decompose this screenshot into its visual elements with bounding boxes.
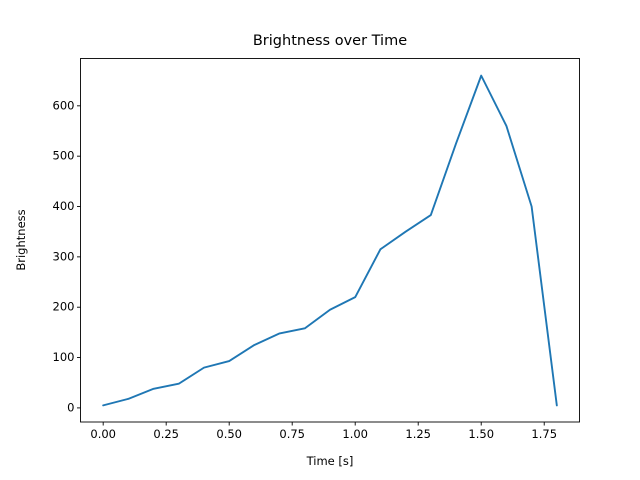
x-tick-label: 1.25 [405,427,431,441]
x-tick-label: 1.75 [531,427,557,441]
y-tick-label: 300 [53,249,75,263]
x-axis-label: Time [s] [306,454,354,468]
y-tick-label: 600 [53,98,75,112]
y-axis-label: Brightness [14,209,28,270]
x-tick-label: 0.50 [216,427,242,441]
chart-figure: Brightness over Time 0.000.250.500.751.0… [0,0,640,480]
y-tick-label: 0 [67,400,74,414]
y-tick-label: 200 [53,300,75,314]
chart-title: Brightness over Time [253,33,407,49]
x-tick-label: 0.25 [153,427,179,441]
x-tick-label: 0.75 [279,427,305,441]
x-tick-label: 1.00 [342,427,368,441]
chart-canvas: Brightness over Time 0.000.250.500.751.0… [0,0,640,480]
y-tick-label: 500 [53,149,75,163]
x-tick-label: 1.50 [468,427,494,441]
x-tick-label: 0.00 [90,427,116,441]
y-tick-label: 400 [53,199,75,213]
figure-background [0,0,640,480]
y-tick-label: 100 [53,350,75,364]
